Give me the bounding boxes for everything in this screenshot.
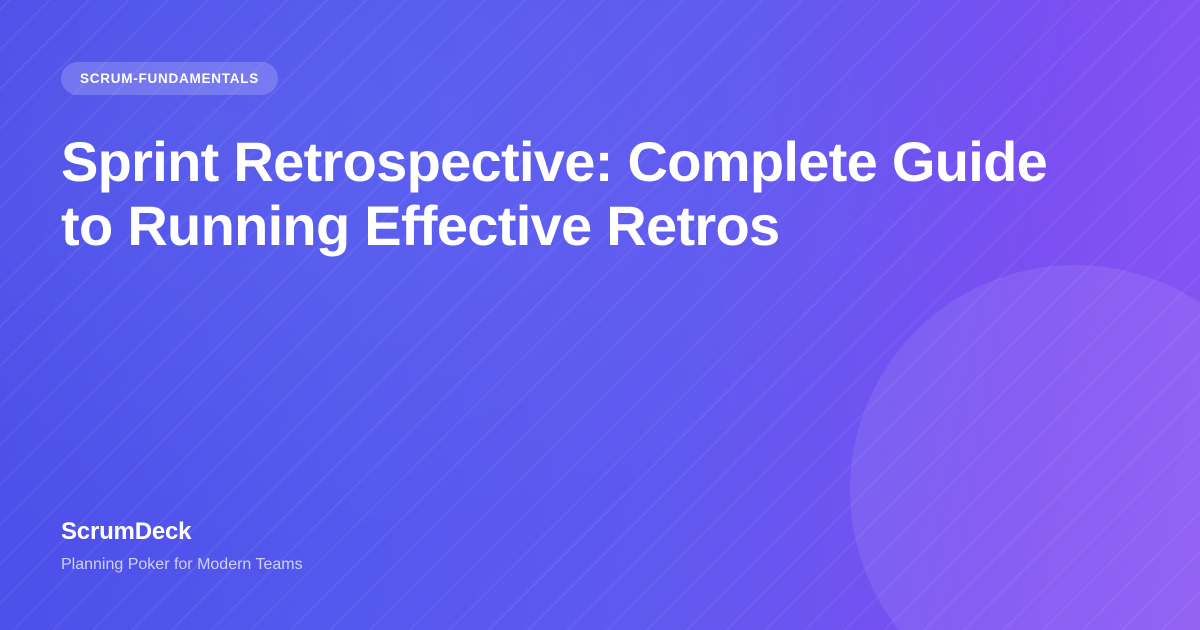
card-content: SCRUM-FUNDAMENTALS Sprint Retrospective:…	[0, 0, 1200, 630]
brand-footer: ScrumDeck Planning Poker for Modern Team…	[61, 519, 1140, 574]
page-title: Sprint Retrospective: Complete Guide to …	[61, 130, 1081, 258]
brand-tagline: Planning Poker for Modern Teams	[61, 555, 1140, 574]
brand-name: ScrumDeck	[61, 519, 1140, 545]
social-share-card: SCRUM-FUNDAMENTALS Sprint Retrospective:…	[0, 0, 1200, 630]
layout-spacer	[61, 258, 1140, 519]
category-badge: SCRUM-FUNDAMENTALS	[61, 62, 278, 95]
